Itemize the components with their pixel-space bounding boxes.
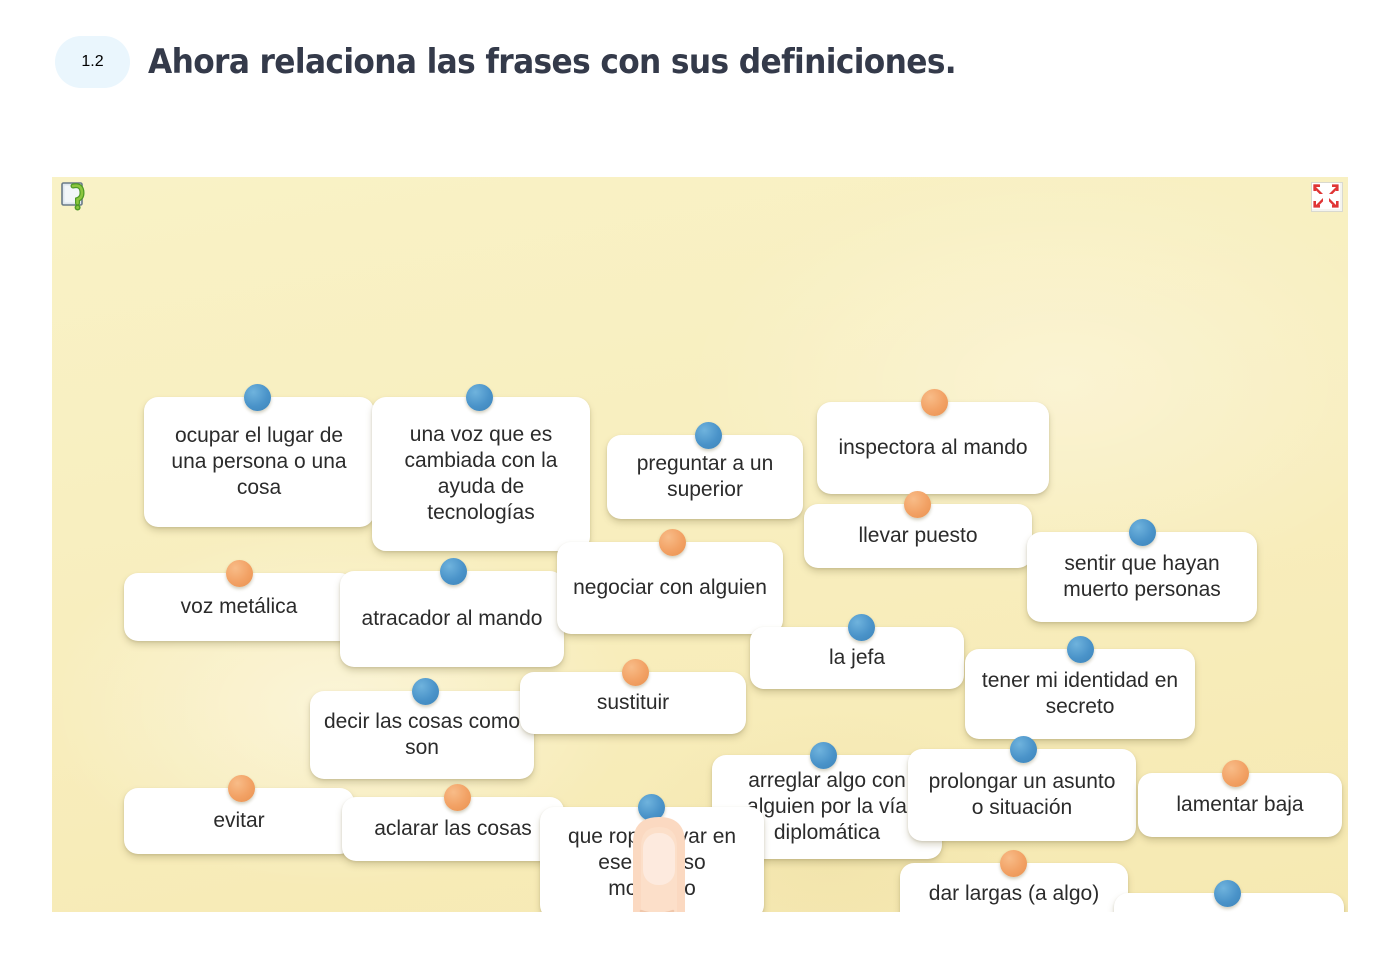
card-inspectora[interactable]: inspectora al mando [817, 402, 1049, 494]
fullscreen-arrows-glyph [1312, 183, 1340, 209]
card-ocupar-lugar[interactable]: ocupar el lugar de una persona o una cos… [144, 397, 374, 527]
connector-dot-blue[interactable] [1067, 636, 1094, 663]
card-que-ropa[interactable]: que ropa llevar en ese preciso momento [540, 807, 764, 912]
help-icon-glyph [60, 180, 94, 214]
connector-dot-orange[interactable] [904, 491, 931, 518]
card-tener-inconveniente[interactable]: tener inconveniente [1114, 893, 1344, 912]
matching-activity-board[interactable]: ocupar el lugar de una persona o una cos… [52, 177, 1348, 912]
card-sustituir[interactable]: sustituir [520, 672, 746, 734]
connector-dot-blue[interactable] [440, 558, 467, 585]
connector-dot-blue[interactable] [412, 678, 439, 705]
card-identidad-secreto[interactable]: tener mi identidad en secreto [965, 649, 1195, 739]
card-label: que ropa llevar en ese preciso momento [552, 824, 752, 902]
card-label: atracador al mando [362, 606, 543, 632]
card-atracador[interactable]: atracador al mando [340, 571, 564, 667]
connector-dot-blue[interactable] [466, 384, 493, 411]
card-dar-largas[interactable]: dar largas (a algo) [900, 863, 1128, 912]
card-label: negociar con alguien [573, 575, 767, 601]
card-llevar-puesto[interactable]: llevar puesto [804, 504, 1032, 568]
connector-dot-blue[interactable] [1129, 519, 1156, 546]
connector-dot-orange[interactable] [622, 659, 649, 686]
page-header: 1.2 Ahora relaciona las frases con sus d… [0, 0, 1378, 130]
card-label: ocupar el lugar de una persona o una cos… [156, 423, 362, 501]
card-label: inspectora al mando [838, 435, 1027, 461]
connector-dot-blue[interactable] [1214, 880, 1241, 907]
connector-dot-orange[interactable] [226, 560, 253, 587]
card-la-jefa[interactable]: la jefa [750, 627, 964, 689]
card-label: una voz que es cambiada con la ayuda de … [384, 422, 578, 526]
page-title: Ahora relaciona las frases con sus defin… [148, 36, 956, 88]
connector-dot-blue[interactable] [848, 614, 875, 641]
card-negociar[interactable]: negociar con alguien [557, 542, 783, 634]
card-sentir-muerto[interactable]: sentir que hayan muerto personas [1027, 532, 1257, 622]
connector-dot-orange[interactable] [1222, 760, 1249, 787]
help-icon[interactable] [60, 180, 94, 214]
connector-dot-orange[interactable] [659, 529, 686, 556]
card-voz-cambiada[interactable]: una voz que es cambiada con la ayuda de … [372, 397, 590, 551]
card-preguntar[interactable]: preguntar a un superior [607, 435, 803, 519]
card-label: preguntar a un superior [619, 451, 791, 503]
card-label: sentir que hayan muerto personas [1039, 551, 1245, 603]
card-label: decir las cosas como son [322, 709, 522, 761]
connector-dot-blue[interactable] [1010, 736, 1037, 763]
exercise-number-badge: 1.2 [55, 36, 130, 88]
connector-dot-blue[interactable] [638, 794, 665, 821]
card-prolongar[interactable]: prolongar un asunto o situación [908, 749, 1136, 841]
card-decir-cosas[interactable]: decir las cosas como son [310, 691, 534, 779]
card-label: llevar puesto [858, 523, 977, 549]
connector-dot-orange[interactable] [228, 775, 255, 802]
card-lamentar-baja[interactable]: lamentar baja [1138, 773, 1342, 837]
connector-dot-blue[interactable] [695, 422, 722, 449]
fullscreen-expand-icon[interactable] [1311, 182, 1343, 212]
card-label: voz metálica [181, 594, 298, 620]
card-label: evitar [213, 808, 264, 834]
connector-dot-orange[interactable] [444, 784, 471, 811]
connector-dot-orange[interactable] [1000, 850, 1027, 877]
card-label: la jefa [829, 645, 885, 671]
connector-dot-blue[interactable] [810, 742, 837, 769]
connector-dot-orange[interactable] [921, 389, 948, 416]
card-evitar[interactable]: evitar [124, 788, 354, 854]
card-label: tener mi identidad en secreto [977, 668, 1183, 720]
card-voz-metalica[interactable]: voz metálica [124, 573, 354, 641]
card-aclarar[interactable]: aclarar las cosas [342, 797, 564, 861]
card-label: prolongar un asunto o situación [920, 769, 1124, 821]
connector-dot-blue[interactable] [244, 384, 271, 411]
card-label: aclarar las cosas [374, 816, 532, 842]
card-label: sustituir [597, 690, 669, 716]
exercise-number: 1.2 [81, 53, 103, 71]
card-label: lamentar baja [1176, 792, 1303, 818]
card-label: dar largas (a algo) [929, 881, 1099, 907]
